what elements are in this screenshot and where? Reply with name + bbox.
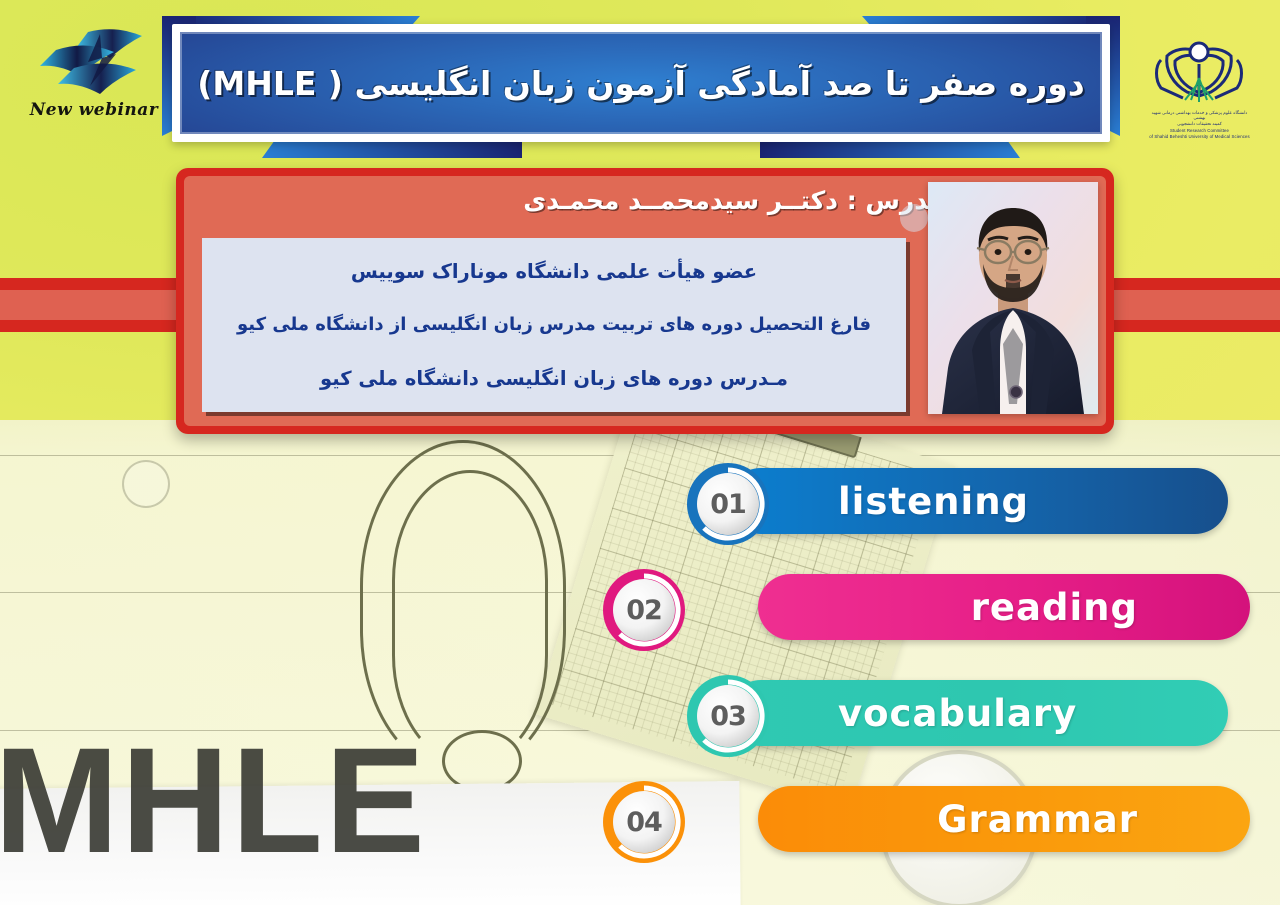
title-banner: دوره صفر تا صد آمادگی آزمون زبان انگلیسی… — [172, 24, 1110, 142]
topic-badge-02: 02 — [602, 568, 686, 652]
emblem-graphic — [1147, 26, 1252, 108]
new-webinar-logo: New webinar — [22, 28, 162, 133]
bio-line-3: مـدرس دوره های زبان انگلیسی دانشگاه ملی … — [216, 367, 892, 390]
topic-number: 02 — [602, 568, 686, 652]
instructor-bio: عضو هیأت علمی دانشگاه موناراک سوییس فارغ… — [202, 238, 906, 412]
topic-badge-03: 03 — [686, 674, 770, 758]
poster-canvas: MHLE New webinar — [0, 0, 1280, 905]
ribbon-icon — [30, 28, 158, 100]
webinar-ribbon-mark — [30, 28, 158, 100]
decorative-dot — [900, 204, 928, 232]
title-box: دوره صفر تا صد آمادگی آزمون زبان انگلیسی… — [177, 29, 1105, 137]
topic-bar[interactable]: reading — [758, 574, 1250, 640]
emblem-caption-fa: دانشگاه علوم پزشکی و خدمات بهداشتی درمان… — [1147, 110, 1252, 126]
topic-number: 01 — [686, 462, 770, 546]
coat-button — [122, 460, 170, 508]
topic-label: listening — [728, 480, 1228, 523]
book-lotus-icon — [1147, 26, 1252, 108]
topic-bar[interactable]: listening — [728, 468, 1228, 534]
instructor-card-inner: مـدرس : دکتــر سیدمحمــد محمـدی عضو هیأت… — [184, 176, 1106, 426]
title-frame: دوره صفر تا صد آمادگی آزمون زبان انگلیسی… — [172, 24, 1110, 142]
emblem-caption-en: Student Research Committee of Shahid Beh… — [1147, 128, 1252, 139]
new-webinar-caption: New webinar — [26, 100, 162, 120]
bio-line-2: فارغ التحصیل دوره های تربیت مدرس زبان ان… — [216, 314, 892, 335]
instructor-card: مـدرس : دکتــر سیدمحمــد محمـدی عضو هیأت… — [176, 168, 1114, 434]
topic-badge-01: 01 — [686, 462, 770, 546]
instructor-portrait — [928, 182, 1098, 414]
topic-bar[interactable]: vocabulary — [728, 680, 1228, 746]
topic-label: vocabulary — [728, 692, 1228, 735]
poster-title: دوره صفر تا صد آمادگی آزمون زبان انگلیسی… — [197, 64, 1084, 103]
topic-list: listening 01 reading — [686, 462, 1252, 882]
bio-line-1: عضو هیأت علمی دانشگاه موناراک سوییس — [216, 260, 892, 283]
topic-bar[interactable]: Grammar — [758, 786, 1250, 852]
topic-number: 03 — [686, 674, 770, 758]
topic-label: Grammar — [758, 798, 1250, 841]
portrait-illustration — [928, 182, 1098, 414]
topic-label: reading — [758, 586, 1250, 629]
watermark-mhle: MHLE — [0, 725, 427, 875]
topic-badge-04: 04 — [602, 780, 686, 864]
university-emblem: دانشگاه علوم پزشکی و خدمات بهداشتی درمان… — [1147, 26, 1252, 144]
topic-number: 04 — [602, 780, 686, 864]
